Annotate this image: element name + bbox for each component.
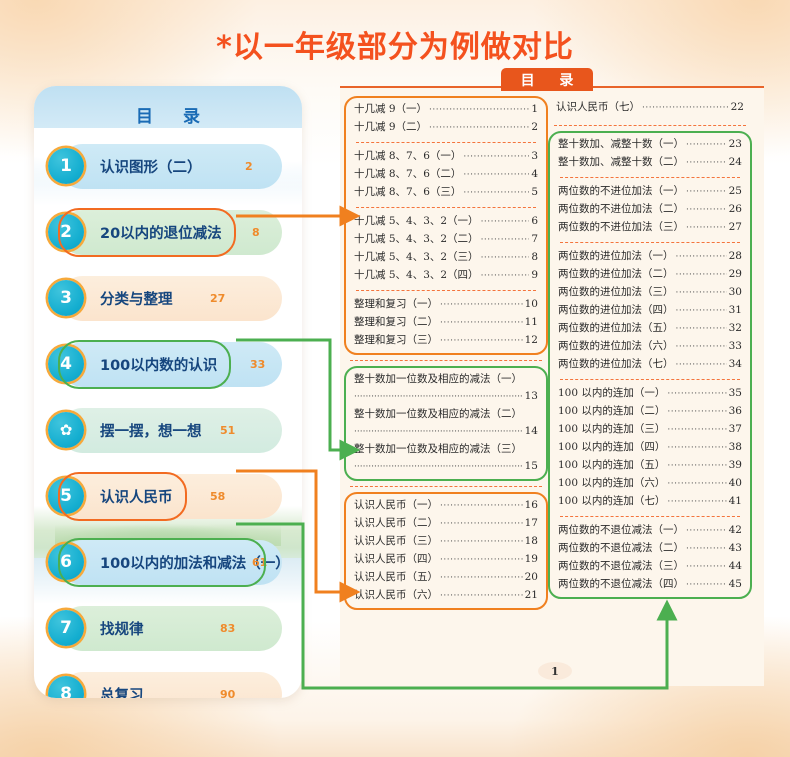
toc-item-page: 2 <box>245 144 253 189</box>
group-separator <box>560 242 740 243</box>
toc-entry-title: 整理和复习（一） <box>354 296 438 313</box>
toc-group-box: 十几减 9（一）································… <box>344 96 548 355</box>
leader-dots: ········································… <box>463 185 529 202</box>
toc-entry: 两位数的不退位减法（三）····························… <box>558 558 742 576</box>
toc-entry-title: 整十数加一位数及相应的减法（三） <box>354 441 538 458</box>
toc-entry-page: 38 <box>729 439 742 456</box>
toc-entry-page: 25 <box>729 183 742 200</box>
toc-item-number: 7 <box>48 610 84 646</box>
toc-entry-page: 31 <box>729 302 742 319</box>
block-separator <box>350 360 542 361</box>
toc-item-label: 100以内数的认识 <box>100 342 217 387</box>
leader-dots: ········································… <box>354 389 523 406</box>
toc-entry-title: 整十数加、减整十数（一） <box>558 136 684 153</box>
toc-entry: 认识人民币（七）································… <box>556 99 744 117</box>
toc-entry-title: 整十数加一位数及相应的减法（一） <box>354 371 538 388</box>
leader-dots: ········································… <box>440 333 523 350</box>
leader-dots: ········································… <box>676 357 727 374</box>
toc-entry-page: 43 <box>729 540 742 557</box>
toc-entry-title: 十几减 5、4、3、2（三） <box>354 249 479 266</box>
toc-entry: 100 以内的连加（七）····························… <box>558 493 742 511</box>
toc-entry-title: 整十数加、减整十数（二） <box>558 154 684 171</box>
toc-item-label: 认识图形（二） <box>100 144 202 189</box>
toc-entry-title: 两位数的不退位减法（四） <box>558 576 684 593</box>
toc-entry-page: 4 <box>531 166 538 183</box>
leader-dots: ········································… <box>354 424 523 441</box>
toc-entry-page: 44 <box>729 558 742 575</box>
toc-entry-title: 两位数的进位加法（七） <box>558 356 674 373</box>
toc-entry-page: 24 <box>729 154 742 171</box>
toc-entry-title: 十几减 5、4、3、2（四） <box>354 267 479 284</box>
toc-entry: 100 以内的连加（四）····························… <box>558 439 742 457</box>
toc-item-page: 33 <box>250 342 265 387</box>
toc-entry: 十几减 8、7、6（二）····························… <box>354 166 538 184</box>
toc-entry-page: 28 <box>729 248 742 265</box>
toc-entry-title: 100 以内的连加（一） <box>558 385 665 402</box>
toc-entry-title: 认识人民币（二） <box>354 515 438 532</box>
leader-dots: ········································… <box>667 458 726 475</box>
toc-entry-title: 两位数的进位加法（四） <box>558 302 674 319</box>
leader-dots: ········································… <box>686 577 727 594</box>
toc-entry-page: 9 <box>531 267 538 284</box>
leader-dots: ········································… <box>463 149 529 166</box>
leader-dots: ········································… <box>686 541 727 558</box>
toc-item-8[interactable]: 7找规律83 <box>60 606 282 651</box>
toc-entry-title: 100 以内的连加（六） <box>558 475 665 492</box>
toc-entry: 认识人民币（四）································… <box>354 551 538 569</box>
toc-entry-page: 42 <box>729 522 742 539</box>
toc-entry-page: 14 <box>525 423 538 440</box>
toc-entry: 100 以内的连加（一）····························… <box>558 385 742 403</box>
leader-dots: ········································… <box>667 386 726 403</box>
toc-entry-page: 40 <box>729 475 742 492</box>
toc-entry-page: 23 <box>729 136 742 153</box>
toc-entry-title: 两位数的不退位减法（一） <box>558 522 684 539</box>
toc-entry-title: 十几减 8、7、6（一） <box>354 148 461 165</box>
toc-entry-title: 十几减 5、4、3、2（二） <box>354 231 479 248</box>
toc-item-page: 51 <box>220 408 235 453</box>
leader-dots: ········································… <box>676 285 727 302</box>
right-page-tab[interactable]: 目 录 <box>501 68 593 91</box>
toc-entry: 认识人民币（五）································… <box>354 569 538 587</box>
left-toc-list: 1认识图形（二）2220以内的退位减法83分类与整理274100以内数的认识33… <box>34 86 302 698</box>
toc-entry: 十几减 5、4、3、2（一）··························… <box>354 213 538 231</box>
leader-dots: ········································… <box>686 559 727 576</box>
toc-entry: 两位数的不退位减法（二）····························… <box>558 540 742 558</box>
toc-entry: 两位数的不退位减法（一）····························… <box>558 522 742 540</box>
toc-entry: 两位数的进位加法（三）·····························… <box>558 284 742 302</box>
leader-dots: ········································… <box>440 516 523 533</box>
page-number-badge: 1 <box>538 662 572 680</box>
leader-dots: ········································… <box>686 202 727 219</box>
group-separator <box>356 207 536 208</box>
leader-dots: ········································… <box>642 100 729 117</box>
toc-item-9[interactable]: 8总复习90 <box>60 672 282 698</box>
toc-item-label: 分类与整理 <box>100 276 173 321</box>
right-column-right: 认识人民币（七）································… <box>552 88 748 599</box>
toc-entry-title: 两位数的不进位加法（三） <box>558 219 684 236</box>
leader-dots: ········································… <box>686 137 727 154</box>
toc-entry-title: 两位数的进位加法（六） <box>558 338 674 355</box>
toc-entry-page: 18 <box>525 533 538 550</box>
leader-dots: ········································… <box>440 498 523 515</box>
toc-entry: 十几减 5、4、3、2（四）··························… <box>354 267 538 285</box>
leader-dots: ········································… <box>686 155 727 172</box>
toc-entry: 整十数加、减整十数（一）····························… <box>558 136 742 154</box>
toc-entry-title: 认识人民币（六） <box>354 587 438 604</box>
leader-dots: ········································… <box>481 268 530 285</box>
toc-entry-page: 1 <box>531 101 538 118</box>
toc-entry-title: 整理和复习（二） <box>354 314 438 331</box>
toc-entry-page: 20 <box>525 569 538 586</box>
toc-entry-title: 十几减 8、7、6（二） <box>354 166 461 183</box>
leader-dots: ········································… <box>676 267 727 284</box>
leader-dots: ········································… <box>481 232 530 249</box>
toc-entry: 两位数的进位加法（二）·····························… <box>558 266 742 284</box>
toc-entry-title: 两位数的不退位减法（三） <box>558 558 684 575</box>
toc-entry-page: 21 <box>525 587 538 604</box>
leader-dots: ········································… <box>676 249 727 266</box>
block-separator <box>554 125 746 126</box>
toc-entry-title: 整十数加一位数及相应的减法（二） <box>354 406 538 423</box>
toc-entry-page: 13 <box>525 388 538 405</box>
toc-entry: 整理和复习（三）································… <box>354 332 538 350</box>
toc-entry-page: 12 <box>525 332 538 349</box>
toc-item-3[interactable]: 3分类与整理27 <box>60 276 282 321</box>
toc-entry: 100 以内的连加（六）····························… <box>558 475 742 493</box>
toc-entry: 整理和复习（一）································… <box>354 296 538 314</box>
leader-dots: ········································… <box>440 315 523 332</box>
toc-entry-page: 41 <box>729 493 742 510</box>
toc-entry: 整十数加一位数及相应的减法（二）························… <box>354 406 538 441</box>
toc-entry-page: 36 <box>729 403 742 420</box>
toc-item-5[interactable]: ✿摆一摆，想一想51 <box>60 408 282 453</box>
toc-entry-title: 100 以内的连加（二） <box>558 403 665 420</box>
toc-entry-title: 两位数的进位加法（三） <box>558 284 674 301</box>
toc-entry-page: 30 <box>729 284 742 301</box>
sprout-icon: ✿ <box>48 412 84 448</box>
toc-item-number: 2 <box>48 214 84 250</box>
toc-entry-page: 8 <box>531 249 538 266</box>
group-separator <box>356 142 536 143</box>
toc-entry: 两位数的进位加法（五）·····························… <box>558 320 742 338</box>
group-separator <box>560 379 740 380</box>
toc-entry-page: 34 <box>729 356 742 373</box>
toc-entry: 整十数加一位数及相应的减法（一）························… <box>354 371 538 406</box>
toc-entry-title: 认识人民币（七） <box>556 99 640 116</box>
toc-entry-page: 6 <box>531 213 538 230</box>
group-separator <box>560 177 740 178</box>
toc-entry: 两位数的进位加法（七）·····························… <box>558 356 742 374</box>
toc-item-label: 摆一摆，想一想 <box>100 408 202 453</box>
toc-entry: 认识人民币（二）································… <box>354 515 538 533</box>
leader-dots: ········································… <box>481 214 530 231</box>
toc-entry: 十几减 9（二）································… <box>354 119 538 137</box>
page-title: *以一年级部分为例做对比 <box>0 22 790 66</box>
toc-entry: 认识人民币（六）································… <box>354 587 538 605</box>
toc-item-number: 5 <box>48 478 84 514</box>
toc-item-6[interactable]: 5认识人民币58 <box>60 474 282 519</box>
toc-item-label: 20以内的退位减法 <box>100 210 222 255</box>
leader-dots: ········································… <box>429 102 529 119</box>
toc-entry-title: 两位数的不进位加法（二） <box>558 201 684 218</box>
leader-dots: ········································… <box>667 422 726 439</box>
leader-dots: ········································… <box>667 476 726 493</box>
leader-dots: ········································… <box>463 167 529 184</box>
toc-entry: 整十数加一位数及相应的减法（三）························… <box>354 441 538 476</box>
toc-entry-title: 100 以内的连加（七） <box>558 493 665 510</box>
right-page: 十几减 9（一）································… <box>340 86 764 686</box>
toc-entry-page: 5 <box>531 184 538 201</box>
leader-dots: ········································… <box>429 120 529 137</box>
toc-item-page: 90 <box>220 672 235 698</box>
toc-entry-page: 33 <box>729 338 742 355</box>
toc-entry: 100 以内的连加（三）····························… <box>558 421 742 439</box>
toc-item-page: 58 <box>210 474 225 519</box>
toc-entry-page: 45 <box>729 576 742 593</box>
leader-dots: ········································… <box>440 297 523 314</box>
block-separator <box>350 486 542 487</box>
toc-item-number: 4 <box>48 346 84 382</box>
toc-item-page: 27 <box>210 276 225 321</box>
toc-entry: 两位数的进位加法（一）·····························… <box>558 248 742 266</box>
toc-entry-title: 两位数的不退位减法（二） <box>558 540 684 557</box>
toc-item-number: 6 <box>48 544 84 580</box>
toc-entry-title: 认识人民币（一） <box>354 497 438 514</box>
toc-entry-page: 11 <box>525 314 538 331</box>
toc-entry: 两位数的不进位加法（二）····························… <box>558 201 742 219</box>
leader-dots: ········································… <box>440 588 523 605</box>
toc-entry-title: 十几减 5、4、3、2（一） <box>354 213 479 230</box>
leader-dots: ········································… <box>354 459 523 476</box>
toc-entry-title: 十几减 8、7、6（三） <box>354 184 461 201</box>
toc-entry-page: 2 <box>531 119 538 136</box>
toc-entry-title: 两位数的进位加法（二） <box>558 266 674 283</box>
toc-group-box: 整十数加一位数及相应的减法（一）························… <box>344 366 548 481</box>
toc-entry: 十几减 8、7、6（三）····························… <box>354 184 538 202</box>
toc-entry-page: 3 <box>531 148 538 165</box>
toc-entry-page: 16 <box>525 497 538 514</box>
leader-dots: ········································… <box>676 321 727 338</box>
toc-item-page: 61 <box>252 540 267 585</box>
right-column-left: 十几减 9（一）································… <box>348 88 544 610</box>
toc-entry-page: 37 <box>729 421 742 438</box>
toc-entry: 两位数的不退位减法（四）····························… <box>558 576 742 594</box>
toc-entry-title: 十几减 9（一） <box>354 101 427 118</box>
toc-entry-page: 27 <box>729 219 742 236</box>
toc-entry: 两位数的不进位加法（一）····························… <box>558 183 742 201</box>
toc-entry-title: 100 以内的连加（三） <box>558 421 665 438</box>
toc-entry-page: 19 <box>525 551 538 568</box>
toc-entry: 100 以内的连加（五）····························… <box>558 457 742 475</box>
toc-entry: 认识人民币（一）································… <box>354 497 538 515</box>
toc-entry: 两位数的进位加法（四）·····························… <box>558 302 742 320</box>
toc-entry-title: 两位数的不进位加法（一） <box>558 183 684 200</box>
toc-item-1[interactable]: 1认识图形（二）2 <box>60 144 282 189</box>
toc-item-page: 83 <box>220 606 235 651</box>
toc-entry-title: 认识人民币（三） <box>354 533 438 550</box>
toc-group-box: 整十数加、减整十数（一）····························… <box>548 131 752 599</box>
group-separator <box>560 516 740 517</box>
toc-entry: 十几减 9（一）································… <box>354 101 538 119</box>
group-separator <box>356 290 536 291</box>
toc-entry-title: 十几减 9（二） <box>354 119 427 136</box>
leader-dots: ········································… <box>686 220 727 237</box>
toc-item-2[interactable]: 220以内的退位减法8 <box>60 210 282 255</box>
toc-entry: 100 以内的连加（二）····························… <box>558 403 742 421</box>
toc-entry-page: 15 <box>525 458 538 475</box>
toc-entry-page: 35 <box>729 385 742 402</box>
toc-entry-title: 100 以内的连加（五） <box>558 457 665 474</box>
toc-entry: 两位数的不进位加法（三）····························… <box>558 219 742 237</box>
toc-entry-page: 32 <box>729 320 742 337</box>
leader-dots: ········································… <box>481 250 530 267</box>
toc-entry-page: 39 <box>729 457 742 474</box>
toc-item-number: 3 <box>48 280 84 316</box>
leader-dots: ········································… <box>676 303 727 320</box>
toc-item-label: 总复习 <box>100 672 144 698</box>
toc-entry-title: 认识人民币（五） <box>354 569 438 586</box>
left-toc-card: 目 录 1认识图形（二）2220以内的退位减法83分类与整理274100以内数的… <box>34 86 302 698</box>
toc-entry: 整理和复习（二）································… <box>354 314 538 332</box>
toc-entry: 两位数的进位加法（六）·····························… <box>558 338 742 356</box>
toc-entry-page: 7 <box>531 231 538 248</box>
toc-item-number: 1 <box>48 148 84 184</box>
toc-entry-page: 22 <box>731 99 744 116</box>
toc-entry-title: 100 以内的连加（四） <box>558 439 665 456</box>
toc-entry-page: 29 <box>729 266 742 283</box>
leader-dots: ········································… <box>440 534 523 551</box>
toc-item-label: 找规律 <box>100 606 144 651</box>
leader-dots: ········································… <box>676 339 727 356</box>
toc-entry-title: 认识人民币（四） <box>354 551 438 568</box>
toc-entry: 十几减 8、7、6（一）····························… <box>354 148 538 166</box>
toc-entry-title: 整理和复习（三） <box>354 332 438 349</box>
toc-entry-page: 10 <box>525 296 538 313</box>
leader-dots: ········································… <box>686 184 727 201</box>
toc-entry: 十几减 5、4、3、2（二）··························… <box>354 231 538 249</box>
toc-entry-page: 26 <box>729 201 742 218</box>
toc-entry-title: 两位数的进位加法（一） <box>558 248 674 265</box>
leader-dots: ········································… <box>440 552 523 569</box>
leader-dots: ········································… <box>667 494 726 511</box>
toc-group-box: 认识人民币（七）································… <box>552 96 748 120</box>
leader-dots: ········································… <box>440 570 523 587</box>
toc-group-box: 认识人民币（一）································… <box>344 492 548 610</box>
toc-entry: 认识人民币（三）································… <box>354 533 538 551</box>
leader-dots: ········································… <box>667 440 726 457</box>
leader-dots: ········································… <box>686 523 727 540</box>
toc-item-label: 认识人民币 <box>100 474 173 519</box>
leader-dots: ········································… <box>667 404 726 421</box>
toc-item-7[interactable]: 6100以内的加法和减法（一）61 <box>60 540 282 585</box>
toc-item-page: 8 <box>252 210 260 255</box>
toc-item-number: 8 <box>48 676 84 698</box>
toc-entry-title: 两位数的进位加法（五） <box>558 320 674 337</box>
toc-entry: 十几减 5、4、3、2（三）··························… <box>354 249 538 267</box>
toc-entry-page: 17 <box>525 515 538 532</box>
toc-item-4[interactable]: 4100以内数的认识33 <box>60 342 282 387</box>
toc-entry: 整十数加、减整十数（二）····························… <box>558 154 742 172</box>
